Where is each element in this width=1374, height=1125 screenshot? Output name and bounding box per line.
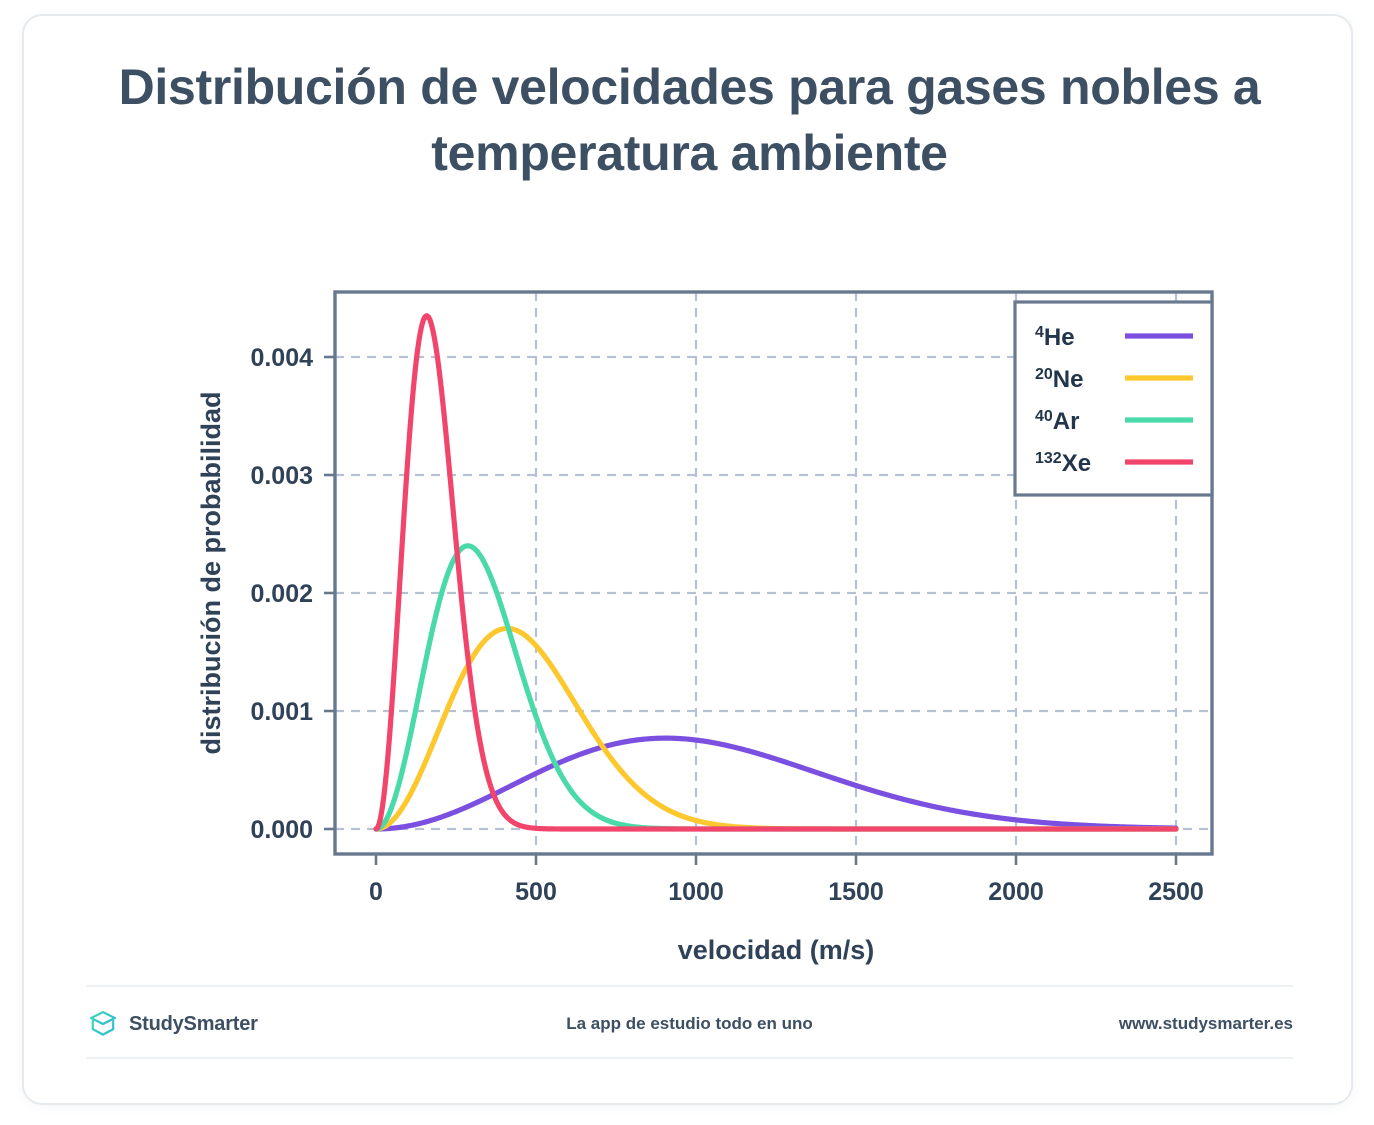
x-tick-label: 2500 [1148,878,1204,906]
footer: StudySmarter La app de estudio todo en u… [24,985,1353,1103]
x-tick-label: 2000 [988,878,1044,906]
y-tick-label: 0.002 [250,580,313,608]
x-tick-label: 500 [515,878,557,906]
footer-row: StudySmarter La app de estudio todo en u… [86,995,1293,1053]
x-tick-label: 1000 [668,878,724,906]
series-line-ar [376,546,1176,829]
footer-divider-bottom [86,1057,1293,1059]
y-axis-label: distribución de probabilidad [196,391,226,754]
page-title: Distribución de velocidades para gases n… [84,54,1295,186]
y-tick-label: 0.004 [250,344,313,372]
brand-name: StudySmarter [129,1013,258,1036]
footer-divider-top [86,985,1293,987]
chart-card: Distribución de velocidades para gases n… [22,14,1353,1105]
legend: 4He20Ne40Ar132Xe [1015,302,1212,495]
brand-block: StudySmarter [86,1007,416,1041]
y-tick-label: 0.000 [250,816,313,844]
x-tick-label: 0 [369,878,383,906]
chart-plot-area: 050010001500200025000.0000.0010.0020.003… [24,241,1353,981]
series-line-he [376,738,1176,829]
x-tick-label: 1500 [828,878,884,906]
footer-tagline: La app de estudio todo en uno [416,1014,963,1034]
footer-website: www.studysmarter.es [963,1014,1293,1034]
y-tick-label: 0.001 [250,698,313,726]
y-tick-label: 0.003 [250,462,313,490]
cube-logo-icon [86,1007,120,1041]
maxwell-boltzmann-chart: 050010001500200025000.0000.0010.0020.003… [24,241,1353,981]
page-root: Distribución de velocidades para gases n… [0,0,1374,1125]
x-axis-label: velocidad (m/s) [678,935,875,965]
